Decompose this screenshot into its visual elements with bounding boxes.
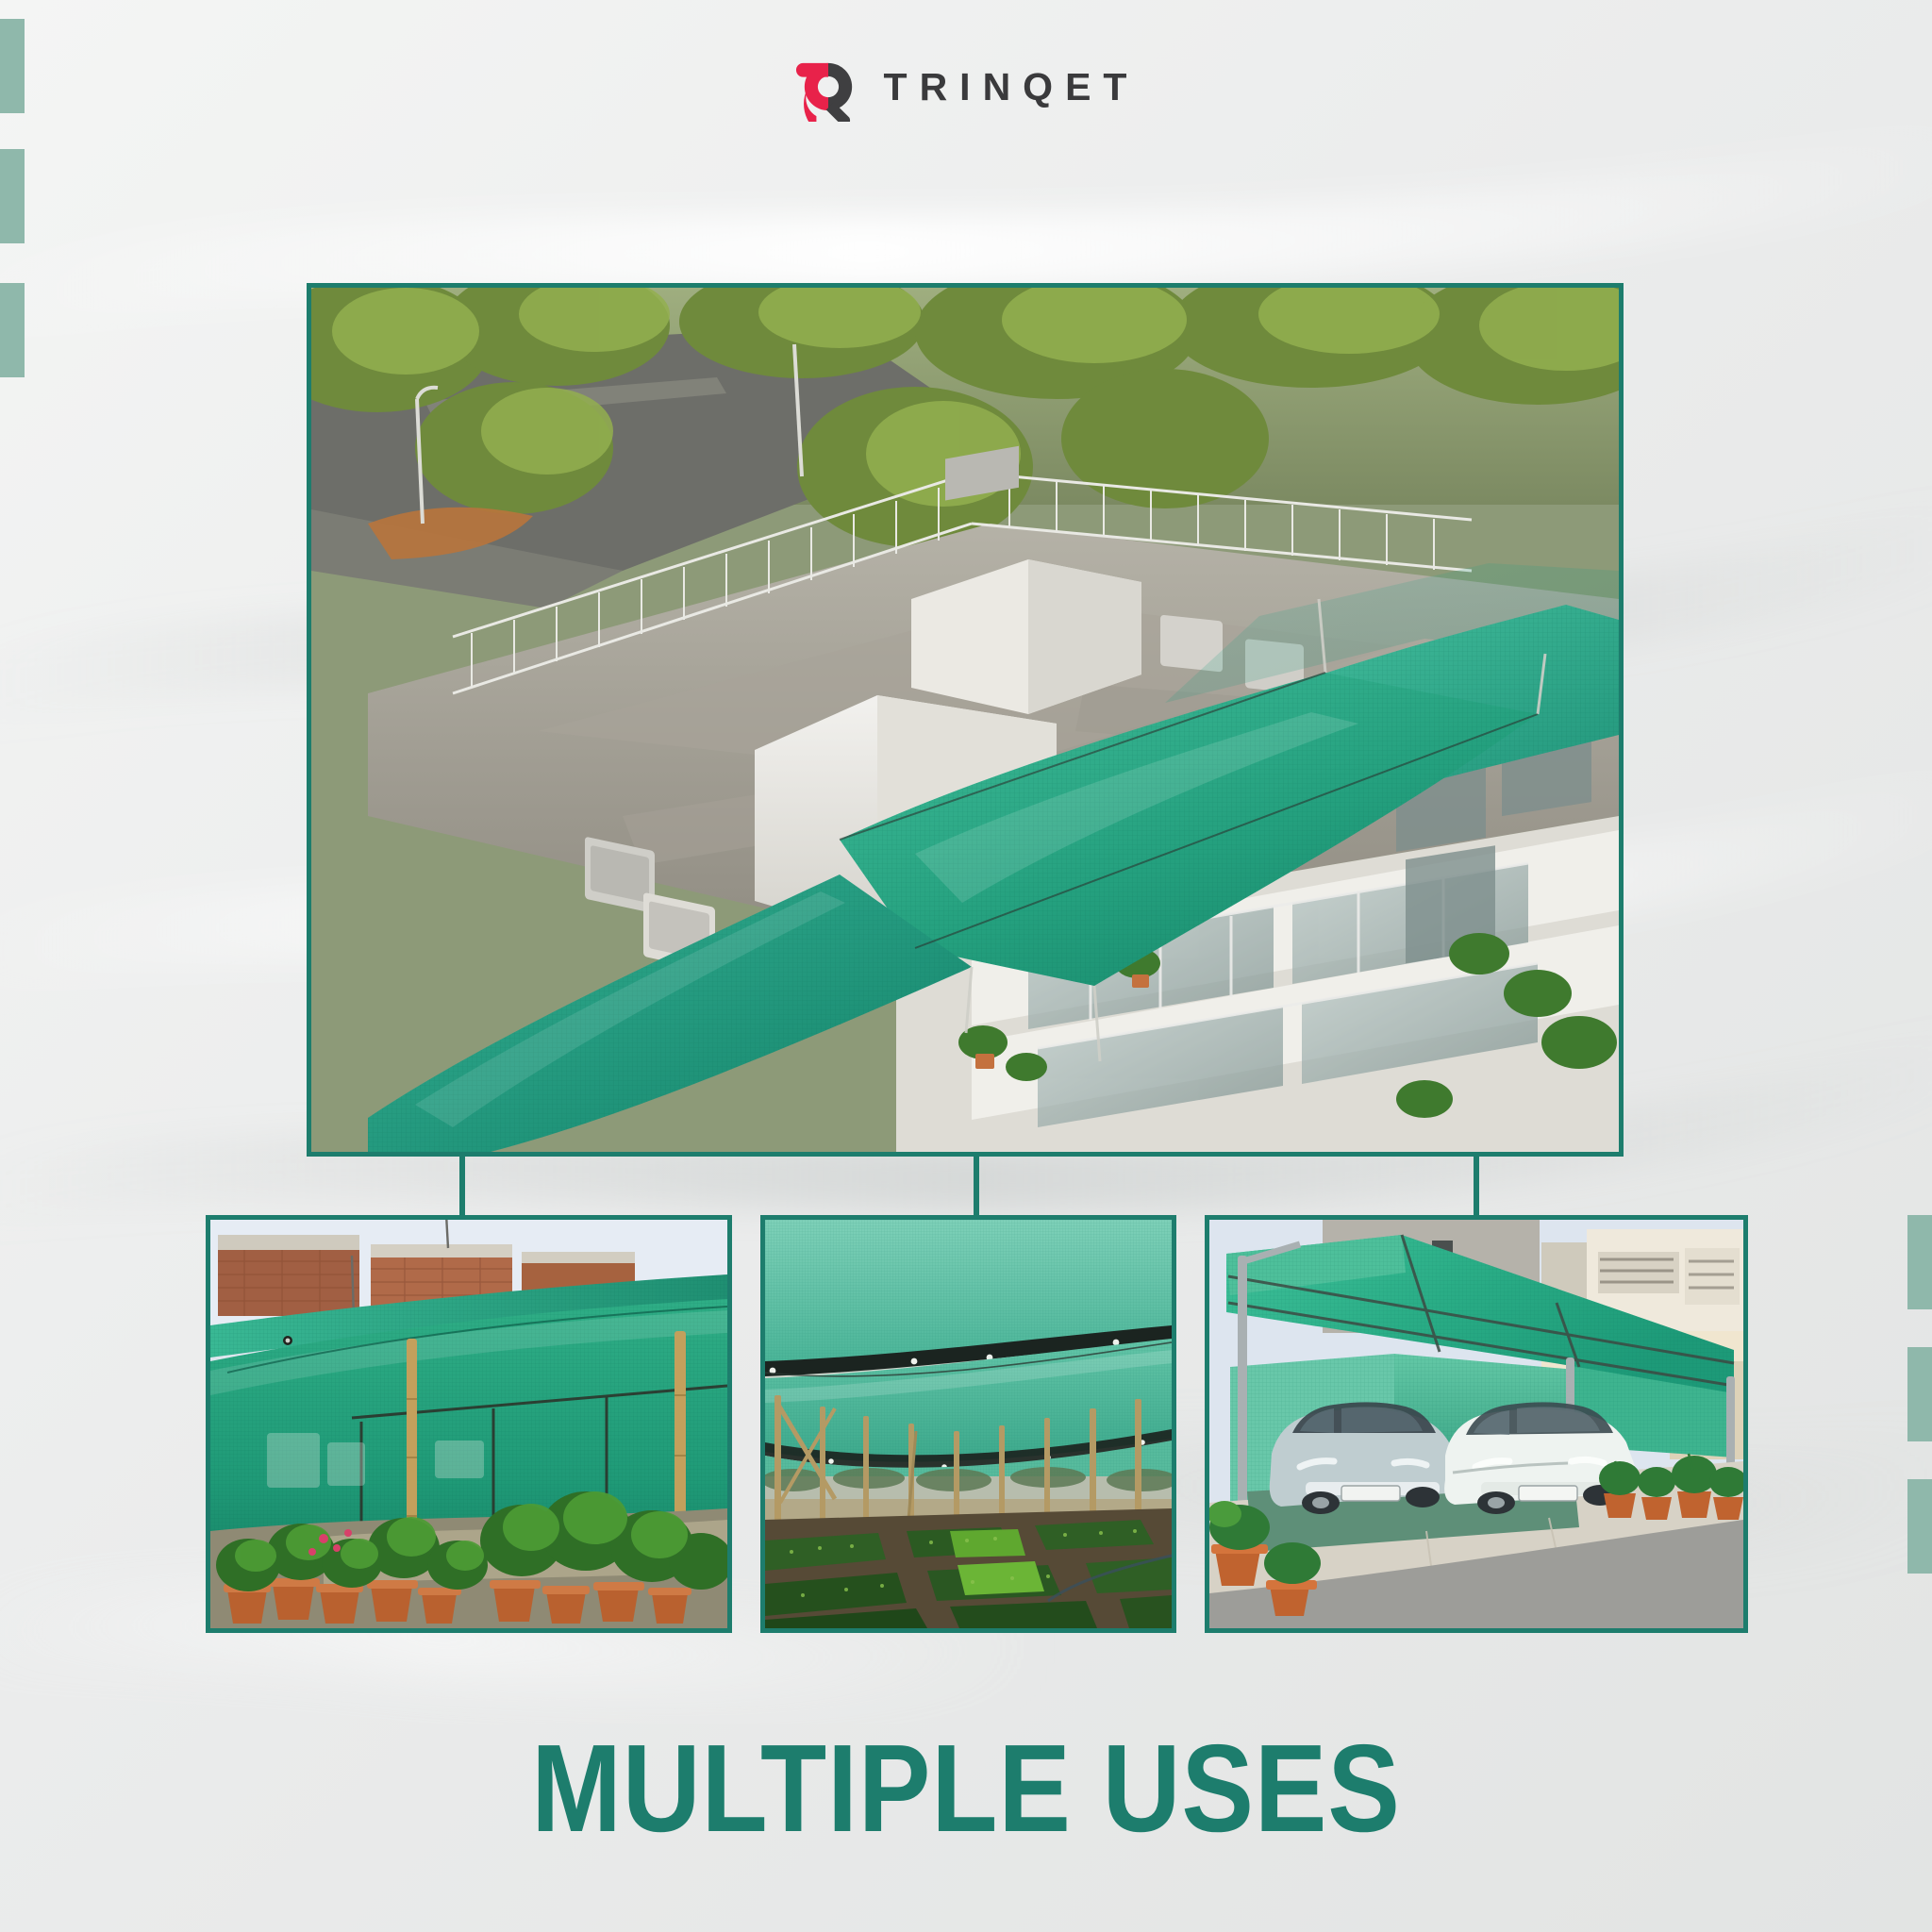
brand-wordmark: TRINQET xyxy=(884,68,1140,107)
edge-accent-right-2 xyxy=(1907,1347,1932,1441)
hero-image-frame xyxy=(307,283,1624,1157)
thumbnail-frame-carport xyxy=(1205,1215,1748,1633)
edge-accent-right-1 xyxy=(1907,1215,1932,1309)
connector-line-3 xyxy=(1474,1153,1479,1219)
edge-accent-left-3 xyxy=(0,283,25,377)
thumbnail-photo-agricultural-shade-net-farm xyxy=(765,1220,1172,1628)
thumbnail-photo-nursery-shade-house xyxy=(210,1220,727,1628)
connector-line-1 xyxy=(459,1153,465,1219)
hero-photo-rooftop-balcony-shade-sails xyxy=(311,288,1619,1152)
edge-accent-left-2 xyxy=(0,149,25,243)
page-title-multiple-uses: MULTIPLE USES xyxy=(125,1726,1807,1851)
thumbnail-frame-agri-shade-net xyxy=(760,1215,1176,1633)
edge-accent-right-3 xyxy=(1907,1479,1932,1574)
thumbnail-frame-nursery xyxy=(206,1215,732,1633)
thumbnail-photo-carport-shade-net xyxy=(1209,1220,1743,1628)
brand-logo: TRINQET xyxy=(0,52,1932,122)
tq-monogram-icon xyxy=(793,52,863,122)
connector-line-2 xyxy=(974,1153,979,1219)
